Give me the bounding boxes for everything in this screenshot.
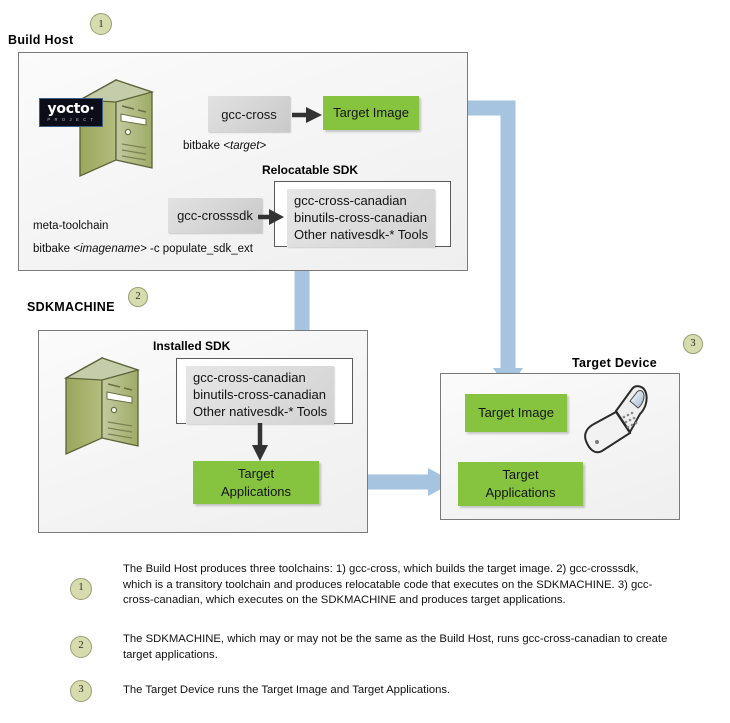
server-tower-icon — [60, 352, 148, 460]
relocatable-sdk-tool-list: gcc-cross-canadian binutils-cross-canadi… — [287, 189, 435, 247]
target-applications-line1: Target — [238, 465, 274, 483]
target-device-badge: 3 — [683, 334, 703, 354]
legend-badge-3: 3 — [70, 680, 94, 702]
tool-item: Other nativesdk-* Tools — [193, 403, 327, 420]
yocto-logo-subtitle: P R O J E C T — [47, 117, 94, 123]
legend-text-3: The Target Device runs the Target Image … — [123, 683, 670, 699]
gcc-cross-box: gcc-cross — [208, 96, 290, 132]
relocatable-sdk-title: Relocatable SDK — [262, 163, 358, 177]
arrow-gcc-crosssdk-to-sdk — [258, 207, 286, 227]
target-device-title: Target Device — [572, 356, 657, 370]
sdkmachine-badge: 2 — [128, 287, 148, 307]
tool-item: binutils-cross-canadian — [193, 386, 327, 403]
legend-badge-2: 2 — [70, 636, 94, 658]
installed-sdk-tool-list: gcc-cross-canadian binutils-cross-canadi… — [186, 366, 334, 424]
tool-item: gcc-cross-canadian — [294, 192, 428, 209]
meta-toolchain-caption: meta-toolchain — [33, 220, 108, 232]
arrow-gcc-cross-to-target-image — [292, 104, 324, 126]
build-host-badge: 1 — [90, 13, 112, 35]
server-tower-icon — [72, 72, 164, 182]
target-applications-line1: Target — [502, 466, 538, 484]
target-applications-box-sdkmachine: Target Applications — [193, 461, 319, 504]
tool-item: Other nativesdk-* Tools — [294, 226, 428, 243]
target-applications-line2: Applications — [485, 484, 555, 502]
tool-item: gcc-cross-canadian — [193, 369, 327, 386]
sdkmachine-title: SDKMACHINE — [27, 300, 115, 314]
diagram-canvas: Build Host 1 yocto· — [0, 0, 730, 723]
yocto-project-logo: yocto· P R O J E C T — [39, 98, 103, 127]
bitbake-target-caption: bitbake <target> — [183, 140, 266, 152]
build-host-title: Build Host — [8, 33, 74, 47]
tool-item: binutils-cross-canadian — [294, 209, 428, 226]
target-image-box-device: Target Image — [465, 394, 567, 432]
legend-text-1: The Build Host produces three toolchains… — [123, 562, 670, 609]
gcc-crosssdk-box: gcc-crosssdk — [168, 198, 262, 233]
target-image-box-build-host: Target Image — [323, 96, 419, 130]
populate-sdk-caption: bitbake <imagename> -c populate_sdk_ext — [33, 243, 253, 255]
arrow-installed-sdk-to-apps — [249, 423, 271, 463]
installed-sdk-title: Installed SDK — [153, 339, 230, 353]
target-applications-line2: Applications — [221, 483, 291, 501]
legend-text-2: The SDKMACHINE, which may or may not be … — [123, 632, 670, 663]
target-applications-box-device: Target Applications — [458, 462, 583, 506]
yocto-logo-word: yocto· — [48, 102, 95, 116]
legend-badge-1: 1 — [70, 578, 94, 600]
flip-phone-icon — [580, 385, 650, 460]
